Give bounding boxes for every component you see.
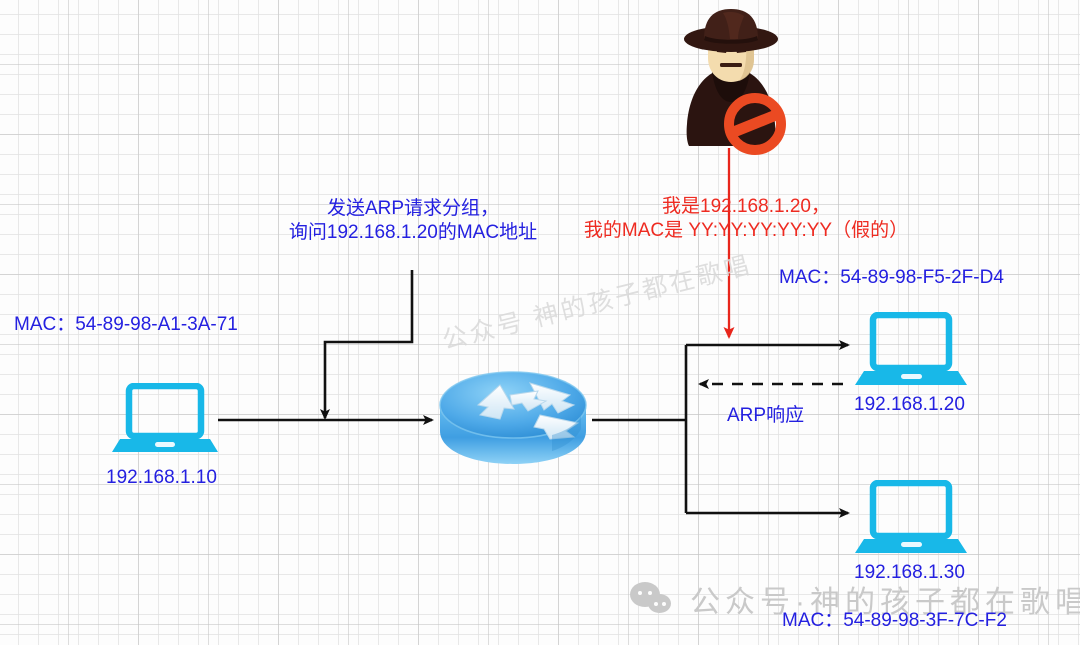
spoof-reply-annotation: 我是192.168.1.20， 我的MAC是 YY:YY:YY:YY:YY（假的… [566, 195, 926, 244]
watermark-diagonal: 公众号 神的孩子都在歌唱 [438, 245, 755, 357]
target-mac-label: MAC：54-89-98-F5-2F-D4 [779, 266, 1004, 290]
target-ip-label: 192.168.1.20 [854, 393, 965, 417]
callout-arp-request [325, 270, 412, 418]
diagram-canvas: 公众号 神的孩子都在歌唱 公众号·神的孩子都在歌唱 [0, 0, 1080, 645]
bystander-ip-label: 192.168.1.30 [854, 561, 965, 585]
spoof-reply-line2: 我的MAC是 YY:YY:YY:YY:YY（假的） [566, 219, 926, 243]
bystander-mac-label: MAC：54-89-98-3F-7C-F2 [782, 609, 1007, 633]
laptop-icon-target [855, 312, 967, 388]
laptop-icon-victim [112, 383, 218, 455]
no-entry-icon [723, 92, 787, 156]
laptop-icon-bystander [855, 480, 967, 556]
arp-response-label: ARP响应 [727, 404, 804, 428]
arp-request-line1: 发送ARP请求分组， [258, 197, 568, 221]
spoof-reply-line1: 我是192.168.1.20， [566, 195, 926, 219]
arp-request-annotation: 发送ARP请求分组， 询问192.168.1.20的MAC地址 [258, 197, 568, 246]
router-icon [434, 367, 592, 471]
link-router-bus [592, 345, 686, 513]
wechat-icon [630, 582, 676, 616]
victim-mac-label: MAC：54-89-98-A1-3A-71 [14, 313, 238, 337]
victim-ip-label: 192.168.1.10 [106, 466, 217, 490]
arp-request-line2: 询问192.168.1.20的MAC地址 [258, 221, 568, 245]
